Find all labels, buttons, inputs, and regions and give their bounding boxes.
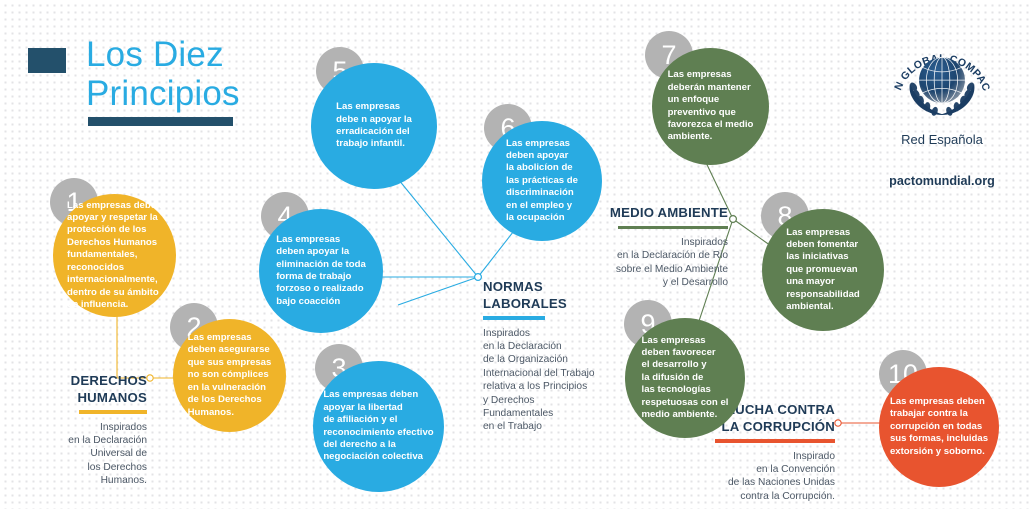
principle-bubble-3[interactable]: Las empresas deben apoyar la libertad de… [313,361,444,492]
principle-text-1: Las empresas deben apoyar y respetar la … [61,200,168,312]
principle-bubble-8[interactable]: Las empresas deben fomentar las iniciati… [762,209,884,331]
principle-text-4: Las empresas deben apoyar la eliminación… [270,234,372,308]
principle-bubble-5[interactable]: Las empresas debe n apoyar la erradicaci… [311,63,437,189]
principle-bubble-1[interactable]: Las empresas deben apoyar y respetar la … [53,194,176,317]
principle-bubble-6[interactable]: Las empresas deben apoyar la abolicíon d… [482,121,602,241]
category-title-derechos-humanos: DERECHOS HUMANOS [20,373,147,406]
principle-text-8: Las empresas deben fomentar las iniciati… [780,227,866,314]
website-url[interactable]: pactomundial.org [862,174,1022,188]
category-title-medio-ambiente: MEDIO AMBIENTE [598,205,728,222]
principle-bubble-2[interactable]: Las empresas deben asegurarse que sus em… [173,319,286,432]
category-rule-normas-laborales [483,316,545,320]
category-rule-derechos-humanos [79,410,147,414]
principle-text-5: Las empresas debe n apoyar la erradicaci… [330,101,418,151]
category-body-medio-ambiente: Inspirados en la Declaración de Rio sobr… [598,236,728,290]
principle-text-10: Las empresas deben trabajar contra la co… [884,396,994,458]
category-body-lucha-contra-la-corrupcion: Inspirado en la Convención de las Nacion… [708,450,835,504]
principle-text-3: Las empresas deben apoyar la libertad de… [317,389,439,463]
principle-bubble-7[interactable]: Las empresas deberán mantener un enfoque… [652,48,769,165]
principle-bubble-10[interactable]: Las empresas deben trabajar contra la co… [879,367,999,487]
principle-bubble-9[interactable]: Las empresas deben favorecer el desarrol… [625,318,745,438]
category-medio-ambiente: MEDIO AMBIENTE Inspirados en la Declarac… [598,205,728,290]
connector-node-hr [147,375,153,381]
category-rule-lucha-contra-la-corrupcion [715,439,835,443]
category-rule-medio-ambiente [618,226,728,230]
category-body-derechos-humanos: Inspirados en la Declaración Universal d… [20,421,147,488]
globe-laurel-icon: UN GLOBAL COMPACT [887,36,997,128]
connector-lab-p3 [398,277,478,305]
principle-text-7: Las empresas deberán mantener un enfoque… [662,69,760,143]
principle-text-2: Las empresas deben asegurarse que sus em… [182,332,278,419]
principle-text-6: Las empresas deben apoyar la abolicíon d… [500,138,584,225]
principle-text-9: Las empresas deben favorecer el desarrol… [636,335,735,422]
connector-node-corruption [835,420,841,426]
category-derechos-humanos: DERECHOS HUMANOS Inspirados en la Declar… [20,373,147,488]
logo-network-label: Red Española [862,132,1022,147]
infographic-canvas: Los Diez Principios 1 Las empresas deben… [0,0,1031,509]
category-normas-laborales: NORMAS LABORALES Inspirados en la Declar… [483,279,633,434]
category-body-normas-laborales: Inspirados en la Declaración de la Organ… [483,327,633,434]
connector-node-labour [475,274,482,281]
connector-node-environment [730,216,737,223]
un-global-compact-logo: UN GLOBAL COMPACT [862,36,1022,188]
principle-bubble-4[interactable]: Las empresas deben apoyar la eliminación… [259,209,383,333]
